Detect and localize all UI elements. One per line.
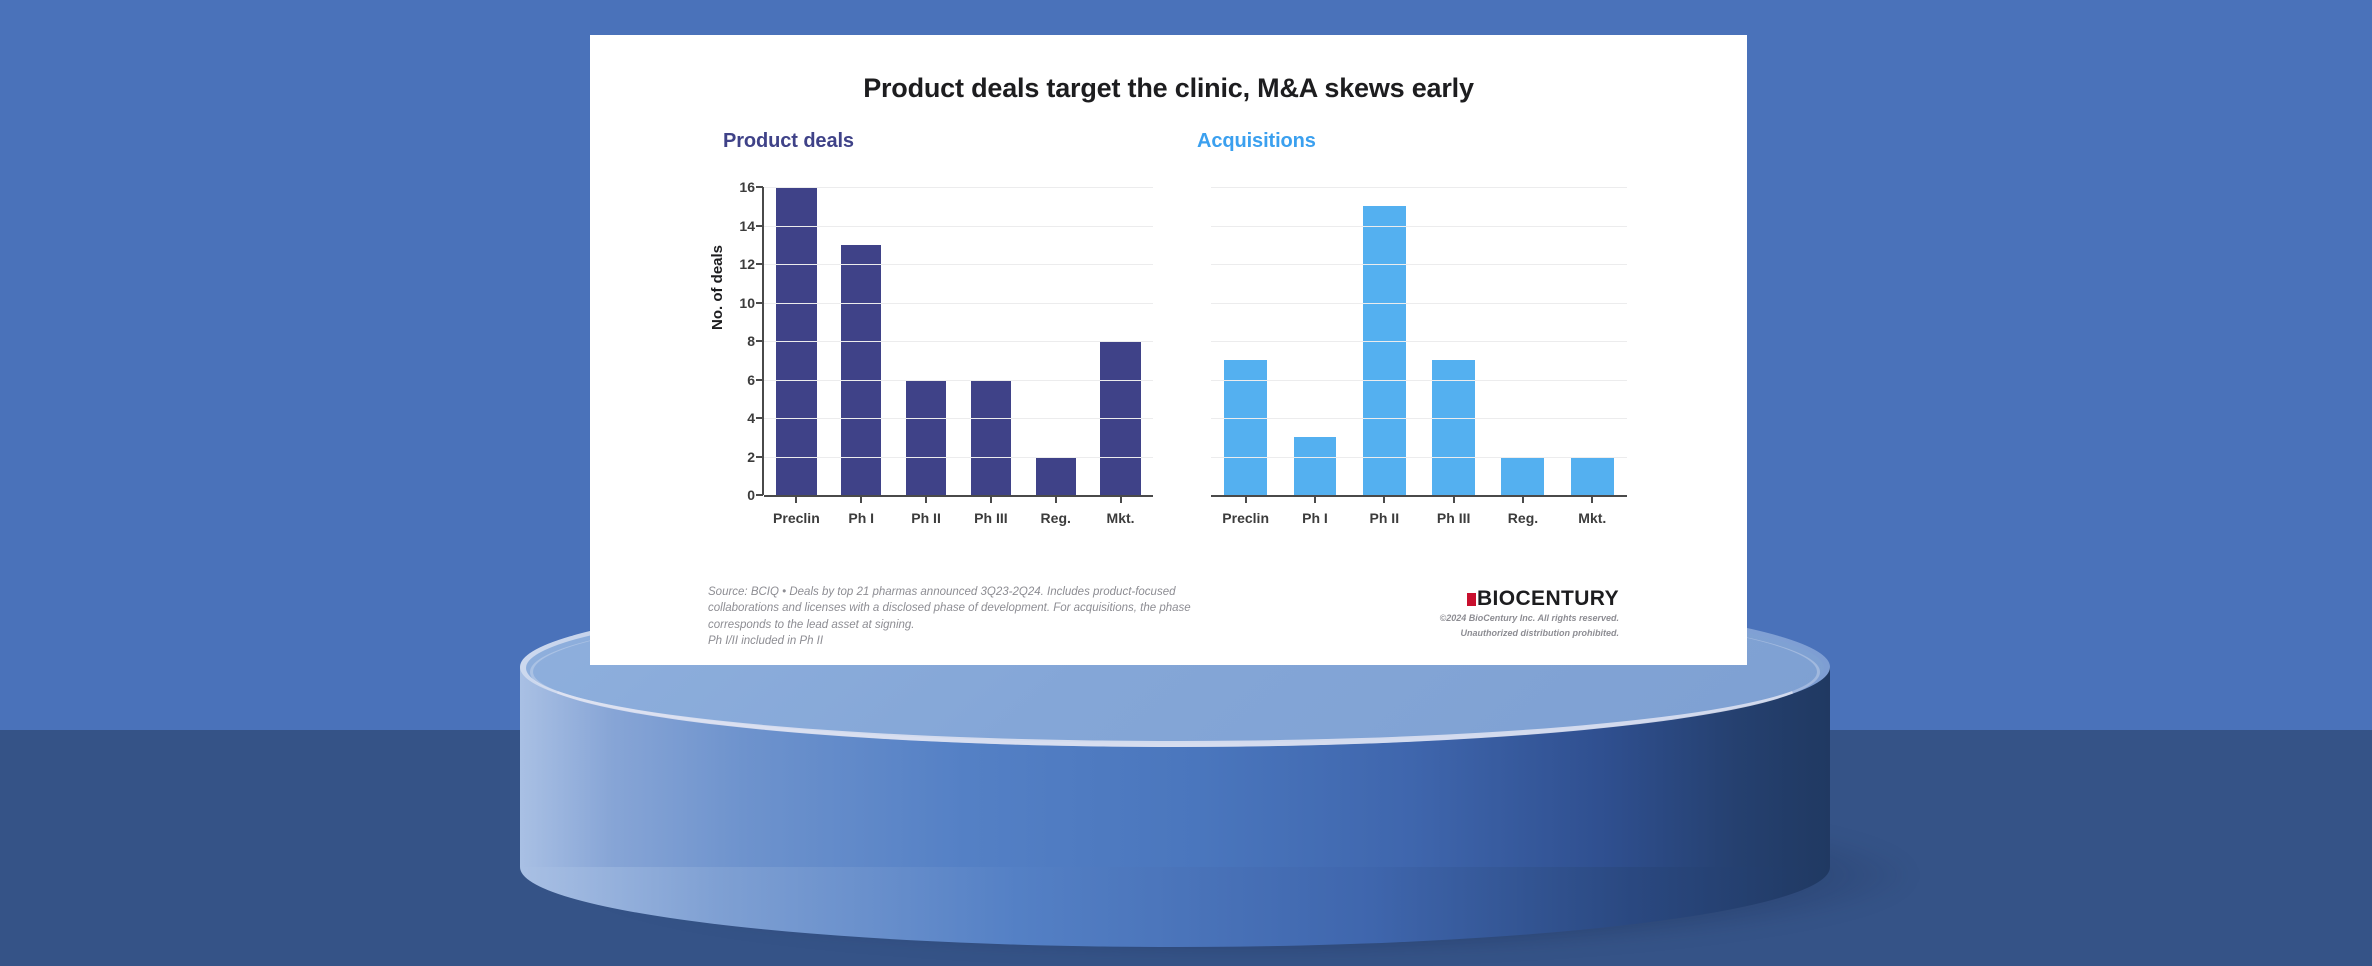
gridline (1211, 226, 1627, 227)
x-tick-mark (1120, 496, 1122, 503)
gridline (764, 341, 1153, 342)
x-tick-label: Ph I (848, 510, 874, 526)
slide-scene: Product deals target the clinic, M&A ske… (0, 0, 2372, 966)
cylinder-pedestal (520, 645, 1830, 945)
y-tick-mark (756, 302, 763, 304)
copyright-line-1: ©2024 BioCentury Inc. All rights reserve… (1404, 612, 1619, 624)
x-tick-mark (990, 496, 992, 503)
plot-area-product-deals: PreclinPh IPh IIPh IIIReg.Mkt. 024681012… (764, 187, 1153, 497)
biocentury-logo-block: BIOCENTURY ©2024 BioCentury Inc. All rig… (1404, 588, 1619, 639)
gridline (1211, 264, 1627, 265)
y-tick-label: 10 (739, 295, 755, 311)
bar[interactable] (1571, 457, 1614, 496)
x-tick-mark (1383, 496, 1385, 503)
bar[interactable] (1363, 206, 1406, 495)
y-tick-mark (756, 456, 763, 458)
gridline (1211, 187, 1627, 188)
plot-area-acquisitions: PreclinPh IPh IIPh IIIReg.Mkt. (1211, 187, 1627, 497)
y-tick-label: 8 (747, 333, 755, 349)
footnote-line-1: Source: BCIQ • Deals by top 21 pharmas a… (708, 584, 1228, 633)
bar[interactable] (1501, 457, 1544, 496)
x-tick-label: Ph III (1437, 510, 1470, 526)
y-tick-mark (756, 225, 763, 227)
y-tick-mark (756, 379, 763, 381)
biocentury-mark-icon (1467, 593, 1476, 606)
x-tick-label: Ph II (1370, 510, 1400, 526)
gridline (1211, 457, 1627, 458)
x-tick-mark (1055, 496, 1057, 503)
x-tick-mark (1453, 496, 1455, 503)
plot-product-deals: No. of deals PreclinPh IPh IIPh IIIReg.M… (721, 162, 1153, 545)
y-tick-label: 4 (747, 410, 755, 426)
x-tick-mark (1314, 496, 1316, 503)
gridline (764, 457, 1153, 458)
y-tick-mark (756, 494, 763, 496)
y-tick-mark (756, 417, 763, 419)
biocentury-wordmark: BIOCENTURY (1404, 588, 1619, 609)
y-tick-label: 6 (747, 372, 755, 388)
biocentury-wordmark-text: BIOCENTURY (1477, 587, 1619, 610)
gridline (1211, 341, 1627, 342)
source-footnote: Source: BCIQ • Deals by top 21 pharmas a… (708, 584, 1228, 649)
y-tick-label: 16 (739, 179, 755, 195)
bar[interactable] (1036, 457, 1076, 496)
gridline (764, 380, 1153, 381)
y-tick-label: 0 (747, 487, 755, 503)
x-tick-label: Mkt. (1578, 510, 1606, 526)
bar[interactable] (971, 380, 1011, 496)
bar[interactable] (906, 380, 946, 496)
gridline (1211, 303, 1627, 304)
panel-acquisitions: Acquisitions PreclinPh IPh IIPh IIIReg.M… (1195, 130, 1627, 545)
gridline (764, 303, 1153, 304)
x-tick-label: Ph II (911, 510, 941, 526)
gridline (1211, 418, 1627, 419)
gridline (764, 418, 1153, 419)
gridline (1211, 380, 1627, 381)
x-tick-mark (1522, 496, 1524, 503)
y-tick-label: 2 (747, 449, 755, 465)
y-tick-mark (756, 263, 763, 265)
page-title: Product deals target the clinic, M&A ske… (590, 73, 1747, 104)
x-tick-mark (925, 496, 927, 503)
y-axis-label: No. of deals (709, 245, 726, 330)
y-tick-mark (756, 186, 763, 188)
gridline (764, 264, 1153, 265)
x-tick-label: Ph I (1302, 510, 1328, 526)
x-tick-label: Preclin (1222, 510, 1269, 526)
footnote-line-2: Ph I/II included in Ph II (708, 633, 1228, 649)
x-tick-label: Reg. (1041, 510, 1071, 526)
panel-title-product-deals: Product deals (723, 130, 1153, 153)
x-tick-label: Preclin (773, 510, 820, 526)
x-tick-mark (1591, 496, 1593, 503)
x-tick-mark (795, 496, 797, 503)
gridline (764, 226, 1153, 227)
bar[interactable] (1294, 437, 1337, 495)
y-tick-label: 12 (739, 256, 755, 272)
plot-acquisitions: PreclinPh IPh IIPh IIIReg.Mkt. (1195, 162, 1627, 545)
x-tick-label: Mkt. (1107, 510, 1135, 526)
x-tick-mark (1245, 496, 1247, 503)
y-tick-mark (756, 340, 763, 342)
x-tick-mark (860, 496, 862, 503)
y-tick-label: 14 (739, 218, 755, 234)
gridline (764, 187, 1153, 188)
panel-product-deals: Product deals No. of deals PreclinPh IPh… (721, 130, 1153, 545)
x-tick-label: Reg. (1508, 510, 1538, 526)
x-tick-label: Ph III (974, 510, 1007, 526)
panel-title-acquisitions: Acquisitions (1197, 130, 1627, 153)
copyright-line-2: Unauthorized distribution prohibited. (1404, 627, 1619, 639)
chart-card: Product deals target the clinic, M&A ske… (590, 35, 1747, 665)
